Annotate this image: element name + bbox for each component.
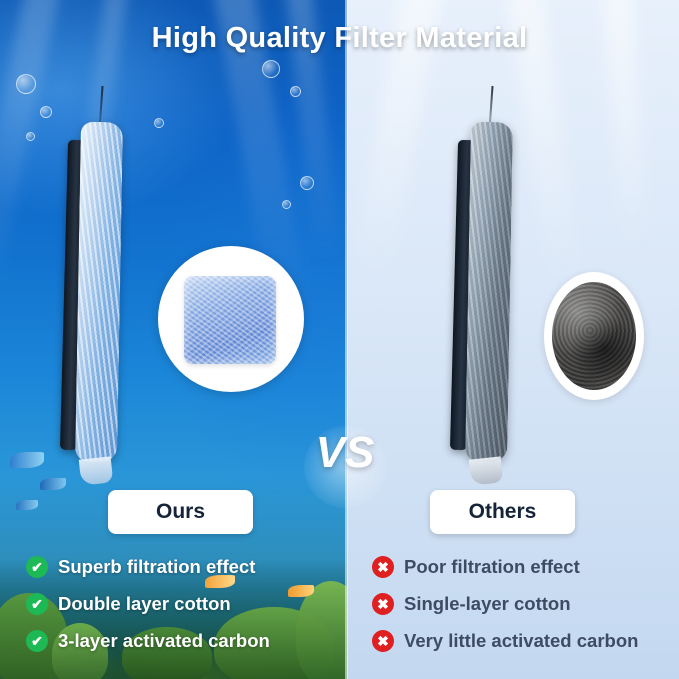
bubble: [262, 60, 280, 78]
bubble: [282, 200, 291, 209]
grey-carbon-sample: [552, 282, 636, 390]
closeup-ours: [158, 246, 304, 392]
bubble: [154, 118, 164, 128]
closeup-others: [544, 272, 644, 400]
label-others: Others: [430, 490, 575, 534]
cross-circle-icon: ✖: [372, 630, 394, 652]
cross-circle-icon: ✖: [372, 593, 394, 615]
feature-row: ✔ 3-layer activated carbon: [26, 624, 342, 657]
feature-label: 3-layer activated carbon: [58, 630, 270, 652]
vs-label: VS: [298, 428, 392, 478]
fish: [10, 452, 44, 468]
feature-list-others: ✖ Poor filtration effect ✖ Single-layer …: [372, 550, 672, 661]
fish: [40, 478, 66, 490]
feature-label: Poor filtration effect: [404, 556, 580, 578]
check-circle-icon: ✔: [26, 593, 48, 615]
product-comparison-image: High Quality Filter Material VS Ours Oth…: [0, 0, 679, 679]
filter-cartridge-others: [452, 100, 522, 470]
page-title: High Quality Filter Material: [0, 22, 679, 55]
feature-label: Single-layer cotton: [404, 593, 571, 615]
blue-filter-pad-sample: [184, 276, 276, 364]
filter-cartridge-ours: [62, 100, 132, 470]
feature-row: ✖ Poor filtration effect: [372, 550, 672, 583]
vs-badge: VS: [298, 420, 392, 514]
check-circle-icon: ✔: [26, 556, 48, 578]
feature-row: ✖ Very little activated carbon: [372, 624, 672, 657]
feature-label: Very little activated carbon: [404, 630, 638, 652]
check-circle-icon: ✔: [26, 630, 48, 652]
filter-floss-pad: [75, 122, 123, 463]
fish: [16, 500, 38, 510]
feature-list-ours: ✔ Superb filtration effect ✔ Double laye…: [26, 550, 342, 661]
bubble: [26, 132, 35, 141]
bubble: [16, 74, 36, 94]
feature-row: ✔ Superb filtration effect: [26, 550, 342, 583]
feature-row: ✔ Double layer cotton: [26, 587, 342, 620]
bubble: [40, 106, 52, 118]
bubble: [300, 176, 314, 190]
label-ours: Ours: [108, 490, 253, 534]
feature-row: ✖ Single-layer cotton: [372, 587, 672, 620]
cross-circle-icon: ✖: [372, 556, 394, 578]
feature-label: Double layer cotton: [58, 593, 231, 615]
filter-floss-pad: [465, 122, 513, 463]
bubble: [290, 86, 301, 97]
feature-label: Superb filtration effect: [58, 556, 255, 578]
panel-divider: [345, 0, 348, 679]
